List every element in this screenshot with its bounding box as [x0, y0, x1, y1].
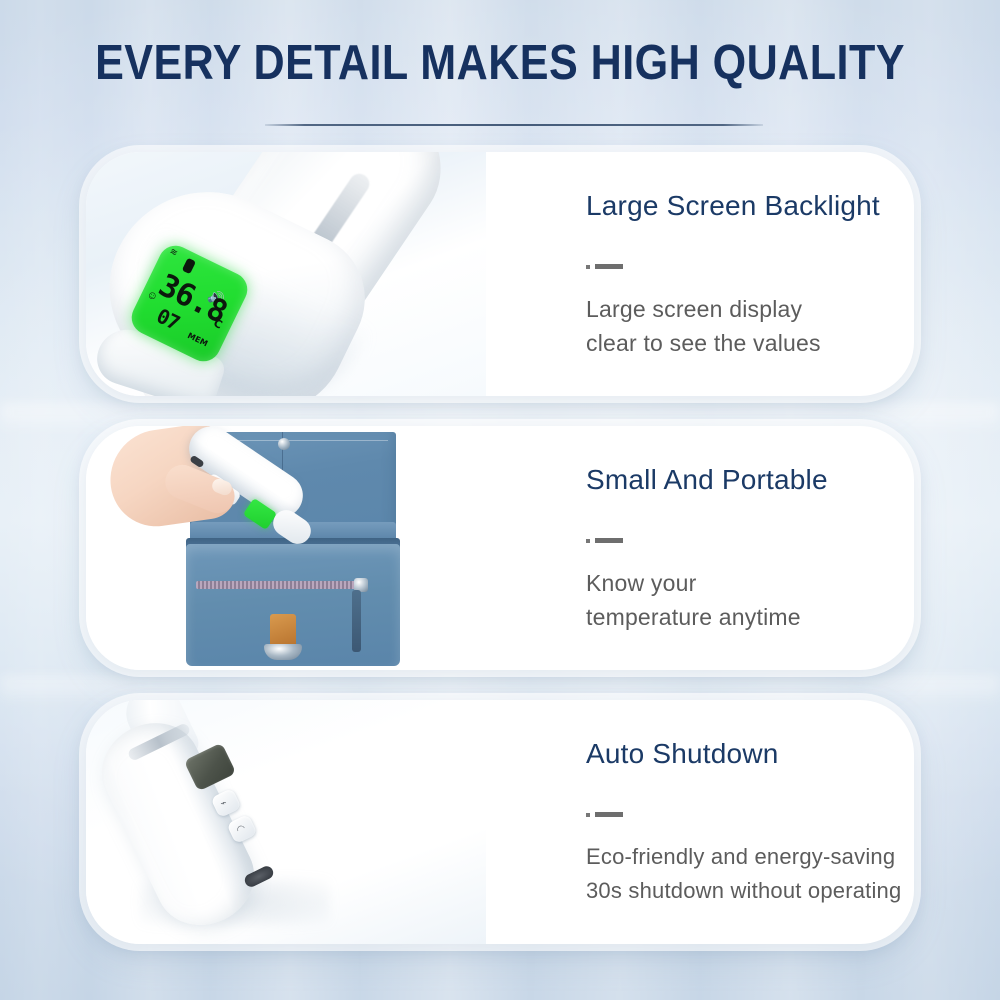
- dot-dash-separator: [586, 264, 630, 269]
- product-photo-screen-off: ⌁ ◠: [86, 700, 486, 944]
- separator-dash: [595, 812, 623, 817]
- feature-heading: Small And Portable: [586, 464, 828, 496]
- feature-card-small-and-portable: Small And Portable Know your temperature…: [86, 426, 914, 670]
- product-photo-backlit-display: ≋ 🔊 ☺ 36.8 ℃ 07 MEM: [86, 152, 486, 396]
- separator-dot: [586, 539, 590, 543]
- feature-description: Large screen display clear to see the va…: [586, 292, 821, 360]
- feature-description: Know your temperature anytime: [586, 566, 801, 634]
- signal-icon: ≋: [168, 247, 179, 258]
- case-tassel: [352, 590, 361, 652]
- case-zipper: [196, 581, 368, 589]
- feature-text-block: Small And Portable Know your temperature…: [498, 426, 914, 670]
- feature-text-block: Auto Shutdown Eco-friendly and energy-sa…: [498, 700, 914, 944]
- case-clasp-base: [264, 644, 302, 660]
- feature-heading: Large Screen Backlight: [586, 190, 880, 222]
- product-photo-portable-case: [86, 426, 486, 670]
- feature-description: Eco-friendly and energy-saving 30s shutd…: [586, 840, 901, 908]
- page-title: EVERY DETAIL MAKES HIGH QUALITY: [60, 38, 940, 89]
- feature-card-auto-shutdown: ⌁ ◠ Auto Shutdown Eco-friendly and energ…: [86, 700, 914, 944]
- feature-card-large-screen-backlight: ≋ 🔊 ☺ 36.8 ℃ 07 MEM Large Screen Backlig…: [86, 152, 914, 396]
- header: EVERY DETAIL MAKES HIGH QUALITY: [0, 38, 1000, 89]
- case-stud: [278, 438, 290, 450]
- dot-dash-separator: [586, 538, 630, 543]
- feature-text-block: Large Screen Backlight Large screen disp…: [498, 152, 914, 396]
- separator-dot: [586, 813, 590, 817]
- dot-dash-separator: [586, 812, 630, 817]
- lcd-memory-label: MEM: [186, 331, 209, 348]
- battery-icon: [182, 258, 196, 275]
- feature-heading: Auto Shutdown: [586, 738, 779, 770]
- separator-dash: [595, 538, 623, 543]
- separator-dot: [586, 265, 590, 269]
- title-divider: [265, 124, 763, 126]
- separator-dash: [595, 264, 623, 269]
